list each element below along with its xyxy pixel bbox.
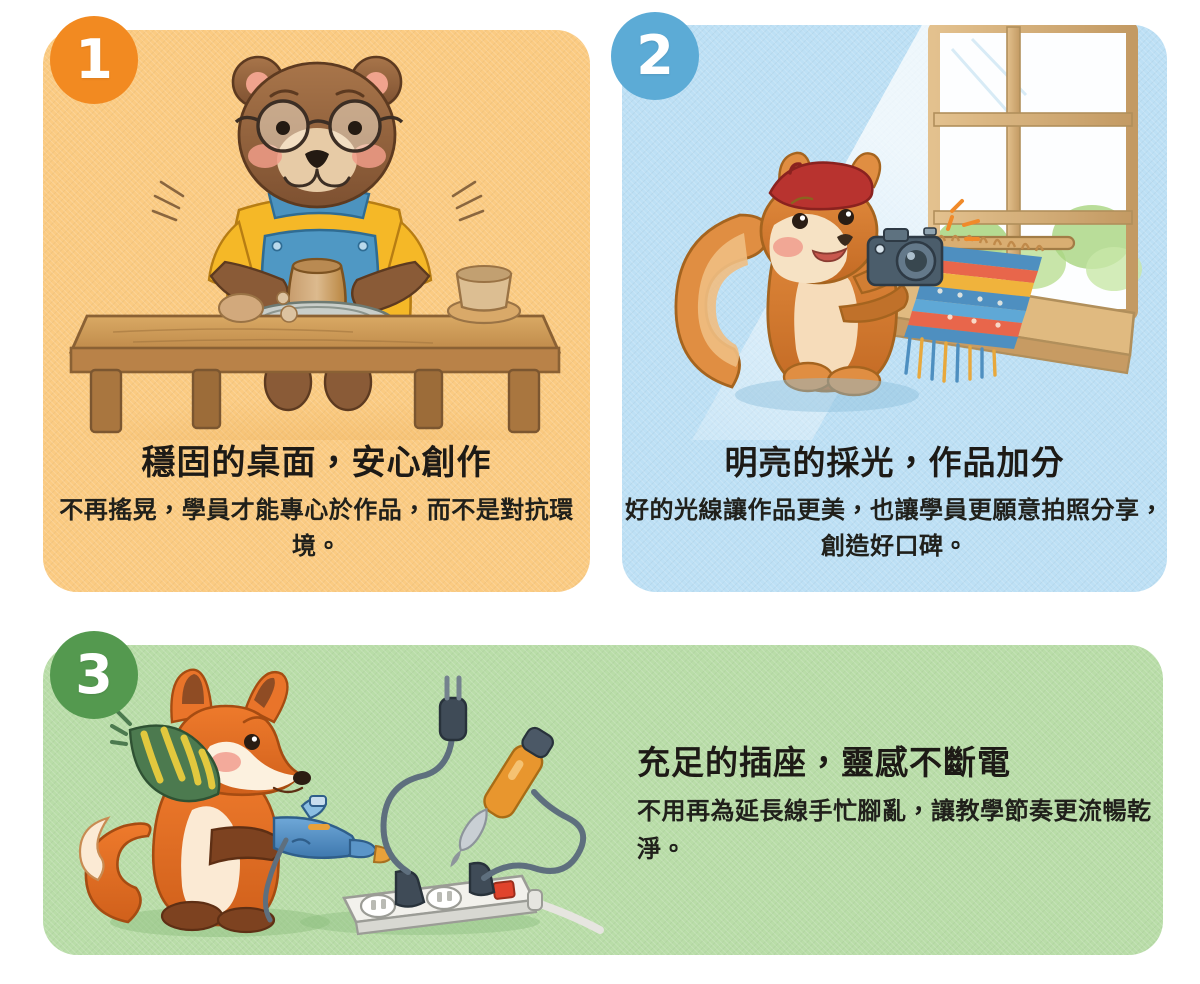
- clay-ball-2: [281, 306, 297, 322]
- card-2-text-block: 明亮的採光，作品加分 好的光線讓作品更美，也讓學員更願意拍照分享，創造好口碑。: [622, 440, 1167, 564]
- fox-foot: [162, 902, 222, 930]
- eye-right: [348, 121, 362, 135]
- squirrel-eye-left: [792, 213, 808, 229]
- motion-lines-right: [453, 182, 483, 220]
- red-power-switch: [493, 881, 515, 899]
- table-edge: [71, 348, 559, 372]
- feature-cards-board: 1 穩固的桌面，安心創作 不再搖晃，學員才能專心於作品，而不是對抗環境。: [0, 0, 1200, 984]
- scarf-fringe: [112, 712, 130, 744]
- card-2-title: 明亮的採光，作品加分: [622, 440, 1167, 486]
- camera-prism: [884, 229, 908, 241]
- motion-lines-left: [153, 182, 183, 220]
- gun-accent: [308, 824, 330, 830]
- lens-glint: [907, 252, 915, 260]
- card-1-text-block: 穩固的桌面，安心創作 不再搖晃，學員才能專心於作品，而不是對抗環境。: [43, 440, 590, 564]
- table-leg-3: [415, 370, 442, 428]
- glue-stick-end: [310, 796, 326, 806]
- hanging-plug: [384, 678, 467, 872]
- card-1-title: 穩固的桌面，安心創作: [43, 440, 590, 486]
- table-leg-1: [91, 370, 121, 432]
- mullion-horizontal-2: [934, 211, 1132, 224]
- card-3-text-block: 充足的插座，靈感不斷電 不用再為延長線手忙腳亂，讓教學節奏更流暢乾淨。: [637, 740, 1157, 868]
- camera: [868, 228, 942, 285]
- squirrel-cheek: [773, 237, 803, 257]
- shutter-button: [924, 228, 936, 235]
- iron-shaft: [454, 805, 493, 854]
- fox-eye: [244, 734, 260, 750]
- eye-left: [276, 121, 290, 135]
- step-number-badge-2: 2: [611, 12, 699, 100]
- step-number-badge-1: 1: [50, 16, 138, 104]
- plug-prongs: [447, 678, 459, 698]
- table-leg-2: [193, 370, 220, 428]
- clay-lump-large: [219, 294, 263, 322]
- floor-shadow: [81, 366, 551, 440]
- plug-cable: [384, 738, 453, 872]
- table-leg-4: [509, 370, 539, 432]
- clay-ball-1: [277, 292, 289, 304]
- overall-button-right: [358, 241, 367, 250]
- iron-tip: [448, 849, 463, 869]
- plug-body: [440, 698, 466, 740]
- illustration-squirrel-window: [622, 25, 1167, 440]
- illustration-fox-power-strip: [60, 650, 630, 950]
- camera-viewfinder: [875, 244, 884, 253]
- card-1-subtitle: 不再搖晃，學員才能專心於作品，而不是對抗環境。: [43, 492, 590, 564]
- cable-grommet: [528, 890, 542, 910]
- card-3-title: 充足的插座，靈感不斷電: [637, 740, 1157, 786]
- fox-arm: [210, 827, 281, 864]
- squirrel-shadow: [735, 378, 919, 412]
- fox-nose: [293, 771, 311, 785]
- cup-rim: [457, 266, 511, 282]
- card-2-subtitle: 好的光線讓作品更美，也讓學員更願意拍照分享，創造好口碑。: [622, 492, 1167, 564]
- mullion-horizontal-1: [934, 113, 1132, 126]
- plug-inserted-1: [396, 871, 424, 907]
- soldering-iron: [444, 724, 584, 880]
- pot-rim: [293, 259, 341, 273]
- illustration-bear-pottery: [43, 30, 590, 440]
- card-3-subtitle: 不用再為延長線手忙腳亂，讓教學節奏更流暢乾淨。: [637, 792, 1157, 868]
- strip-cable: [534, 902, 600, 930]
- step-number-badge-3: 3: [50, 631, 138, 719]
- overall-button-left: [272, 241, 281, 250]
- gun-nozzle-base: [350, 840, 376, 857]
- squirrel-eye-right: [838, 209, 854, 225]
